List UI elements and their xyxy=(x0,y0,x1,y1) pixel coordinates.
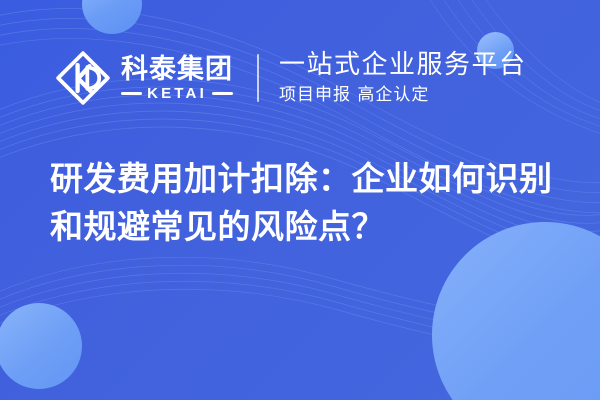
logo-company-name-en: KETAI xyxy=(147,86,207,101)
logo-english-row: KETAI xyxy=(121,86,233,101)
header-tagline: 一站式企业服务平台 项目申报 高企认定 xyxy=(279,51,527,105)
ketai-diamond-monogram-icon xyxy=(56,51,110,105)
logo-rule-left xyxy=(121,92,142,95)
logo-company-name-cn: 科泰集团 xyxy=(121,55,233,84)
header-divider xyxy=(257,54,259,102)
banner-header: 科泰集团 KETAI 一站式企业服务平台 项目申报 高企认定 xyxy=(0,38,600,118)
decorative-circle-top xyxy=(82,0,142,34)
logo-wordmark: 科泰集团 KETAI xyxy=(121,55,233,102)
decorative-circle-bottom-left xyxy=(0,303,82,389)
page-title: 研发费用加计扣除：企业如何识别和规避常见的风险点？ xyxy=(50,155,570,251)
promo-banner: 科泰集团 KETAI 一站式企业服务平台 项目申报 高企认定 研发费用加计扣除：… xyxy=(0,0,600,400)
logo-rule-right xyxy=(212,92,233,95)
tagline-main: 一站式企业服务平台 xyxy=(279,51,527,81)
tagline-sub: 项目申报 高企认定 xyxy=(279,85,527,105)
brand-logo[interactable]: 科泰集团 KETAI xyxy=(56,51,233,105)
